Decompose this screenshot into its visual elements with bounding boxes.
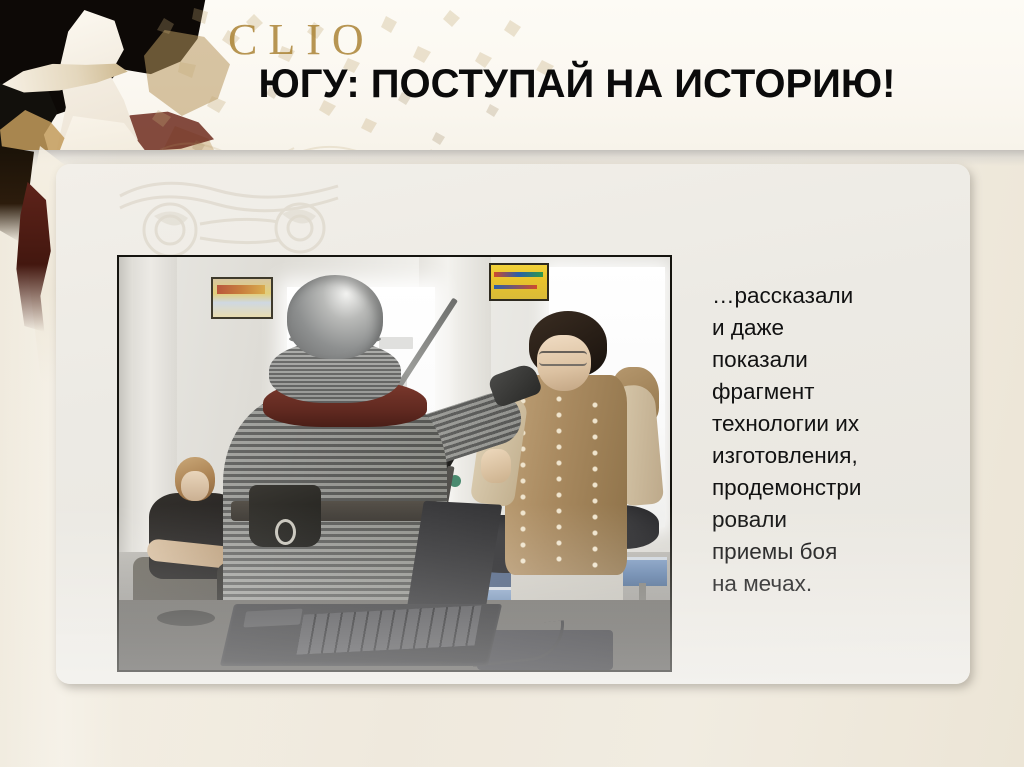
body-text-line: показали <box>712 344 922 376</box>
laptop-touchpad <box>243 609 302 628</box>
knight-helmet <box>287 275 383 359</box>
swordsman-hand <box>481 449 511 483</box>
body-text-line: изготовления, <box>712 440 922 472</box>
framed-picture <box>211 277 273 319</box>
content-panel: …рассказали и даже показали фрагмент тех… <box>56 164 970 684</box>
wall-left-shadow <box>119 257 133 587</box>
body-text-line: приемы боя <box>712 536 922 568</box>
body-text: …рассказали и даже показали фрагмент тех… <box>712 280 922 600</box>
slide-root: CLIO ЮГУ: ПОСТУПАЙ НА ИСТОРИЮ! <box>0 0 1024 767</box>
framed-picture-art <box>213 279 271 317</box>
student-face <box>181 471 209 501</box>
body-text-line: технологии их <box>712 408 922 440</box>
yellow-poster-art <box>491 265 547 299</box>
body-text-line: и даже <box>712 312 922 344</box>
yellow-poster <box>489 263 549 301</box>
blind-slat <box>379 337 413 349</box>
knight-pouch-buckle <box>275 519 296 545</box>
photo-content <box>119 257 670 670</box>
body-text-line: …рассказали <box>712 280 922 312</box>
body-text-line: ровали <box>712 504 922 536</box>
brigandine-rivets <box>555 391 563 571</box>
body-text-line: на мечах. <box>712 568 922 600</box>
swordsman-glasses <box>539 351 587 366</box>
photograph <box>117 255 672 672</box>
floor-disc <box>157 610 215 626</box>
slide-header: CLIO ЮГУ: ПОСТУПАЙ НА ИСТОРИЮ! <box>0 0 1024 150</box>
clio-watermark-text: CLIO <box>228 14 375 65</box>
body-text-line: фрагмент <box>712 376 922 408</box>
body-text-line: продемонстри <box>712 472 922 504</box>
page-title: ЮГУ: ПОСТУПАЙ НА ИСТОРИЮ! <box>0 62 1024 107</box>
brigandine-rivets <box>591 397 599 569</box>
